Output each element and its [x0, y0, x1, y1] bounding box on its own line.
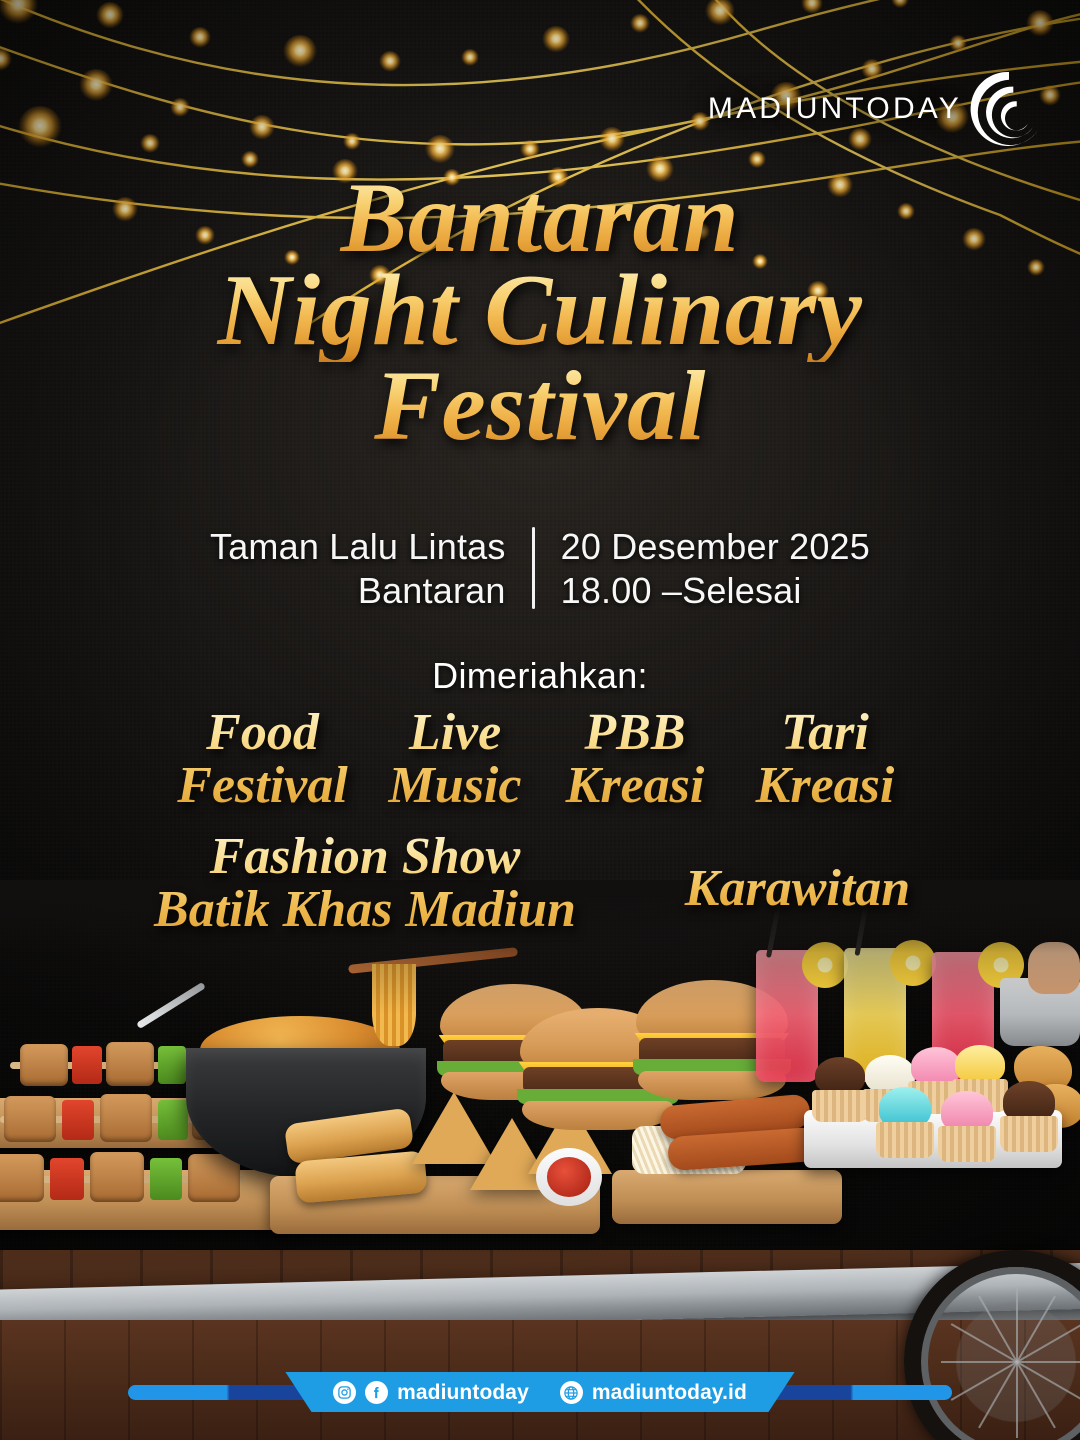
lineup-item-pbb-kreasi: PBB Kreasi: [543, 706, 728, 812]
facebook-icon[interactable]: [365, 1381, 388, 1404]
sausage-board: [612, 1170, 842, 1224]
lineup-item-fashion-show: Fashion Show Batik Khas Madiun: [138, 830, 593, 936]
event-info-row: Taman Lalu Lintas Bantaran 20 Desember 2…: [0, 525, 1080, 613]
title-line-2: Night Culinary: [0, 261, 1080, 362]
venue-line-2: Bantaran: [210, 569, 506, 613]
spoon: [136, 982, 206, 1029]
food-photo-scene: [0, 880, 1080, 1440]
lineup-row-2: Fashion Show Batik Khas Madiun Karawitan: [0, 830, 1080, 936]
noodle-lift: [372, 964, 416, 1046]
footer-social-panel: madiuntoday madiuntoday.id: [268, 1372, 812, 1412]
lemon-slice-1: [802, 942, 848, 988]
lineup-item-tari-kreasi: Tari Kreasi: [728, 706, 923, 812]
cupcake-chocolate-2: [1000, 1086, 1058, 1152]
lineup-item-karawitan: Karawitan: [653, 830, 943, 915]
cupcake-blue: [876, 1092, 934, 1158]
title-line-3: Festival: [0, 356, 1080, 455]
logo-text: MADIUNTODAY: [708, 92, 962, 126]
venue-line-1: Taman Lalu Lintas: [210, 525, 506, 569]
poster: MADIUNTODAY Bantaran Night Culinary Fest…: [0, 0, 1080, 1440]
swirl-crescent-icon: [966, 66, 1052, 152]
hand: [1028, 942, 1080, 994]
cupcake-pink-2: [938, 1096, 996, 1162]
title-line-1: Bantaran: [0, 168, 1080, 267]
lineup-heading: Dimeriahkan:: [0, 655, 1080, 697]
datetime-block: 20 Desember 2025 18.00 –Selesai: [535, 525, 870, 613]
social-handle[interactable]: madiuntoday: [397, 1381, 529, 1405]
lemon-slice-2: [890, 940, 936, 986]
event-time: 18.00 –Selesai: [561, 569, 870, 613]
venue-block: Taman Lalu Lintas Bantaran: [210, 525, 532, 613]
lineup-item-live-music: Live Music: [368, 706, 543, 812]
website-url[interactable]: madiuntoday.id: [592, 1381, 747, 1405]
instagram-icon[interactable]: [333, 1381, 356, 1404]
cupcake-chocolate-1: [812, 1062, 868, 1122]
lineup-item-food-festival: Food Festival: [158, 706, 368, 812]
lineup-row-1: Food Festival Live Music PBB Kreasi Tari…: [0, 706, 1080, 812]
globe-icon[interactable]: [560, 1381, 583, 1404]
event-date: 20 Desember 2025: [561, 525, 870, 569]
event-title: Bantaran Night Culinary Festival: [0, 168, 1080, 455]
sauce-bowl: [536, 1148, 602, 1206]
footer-bar: madiuntoday madiuntoday.id: [0, 1372, 1080, 1412]
brand-logo: MADIUNTODAY: [708, 66, 1052, 152]
